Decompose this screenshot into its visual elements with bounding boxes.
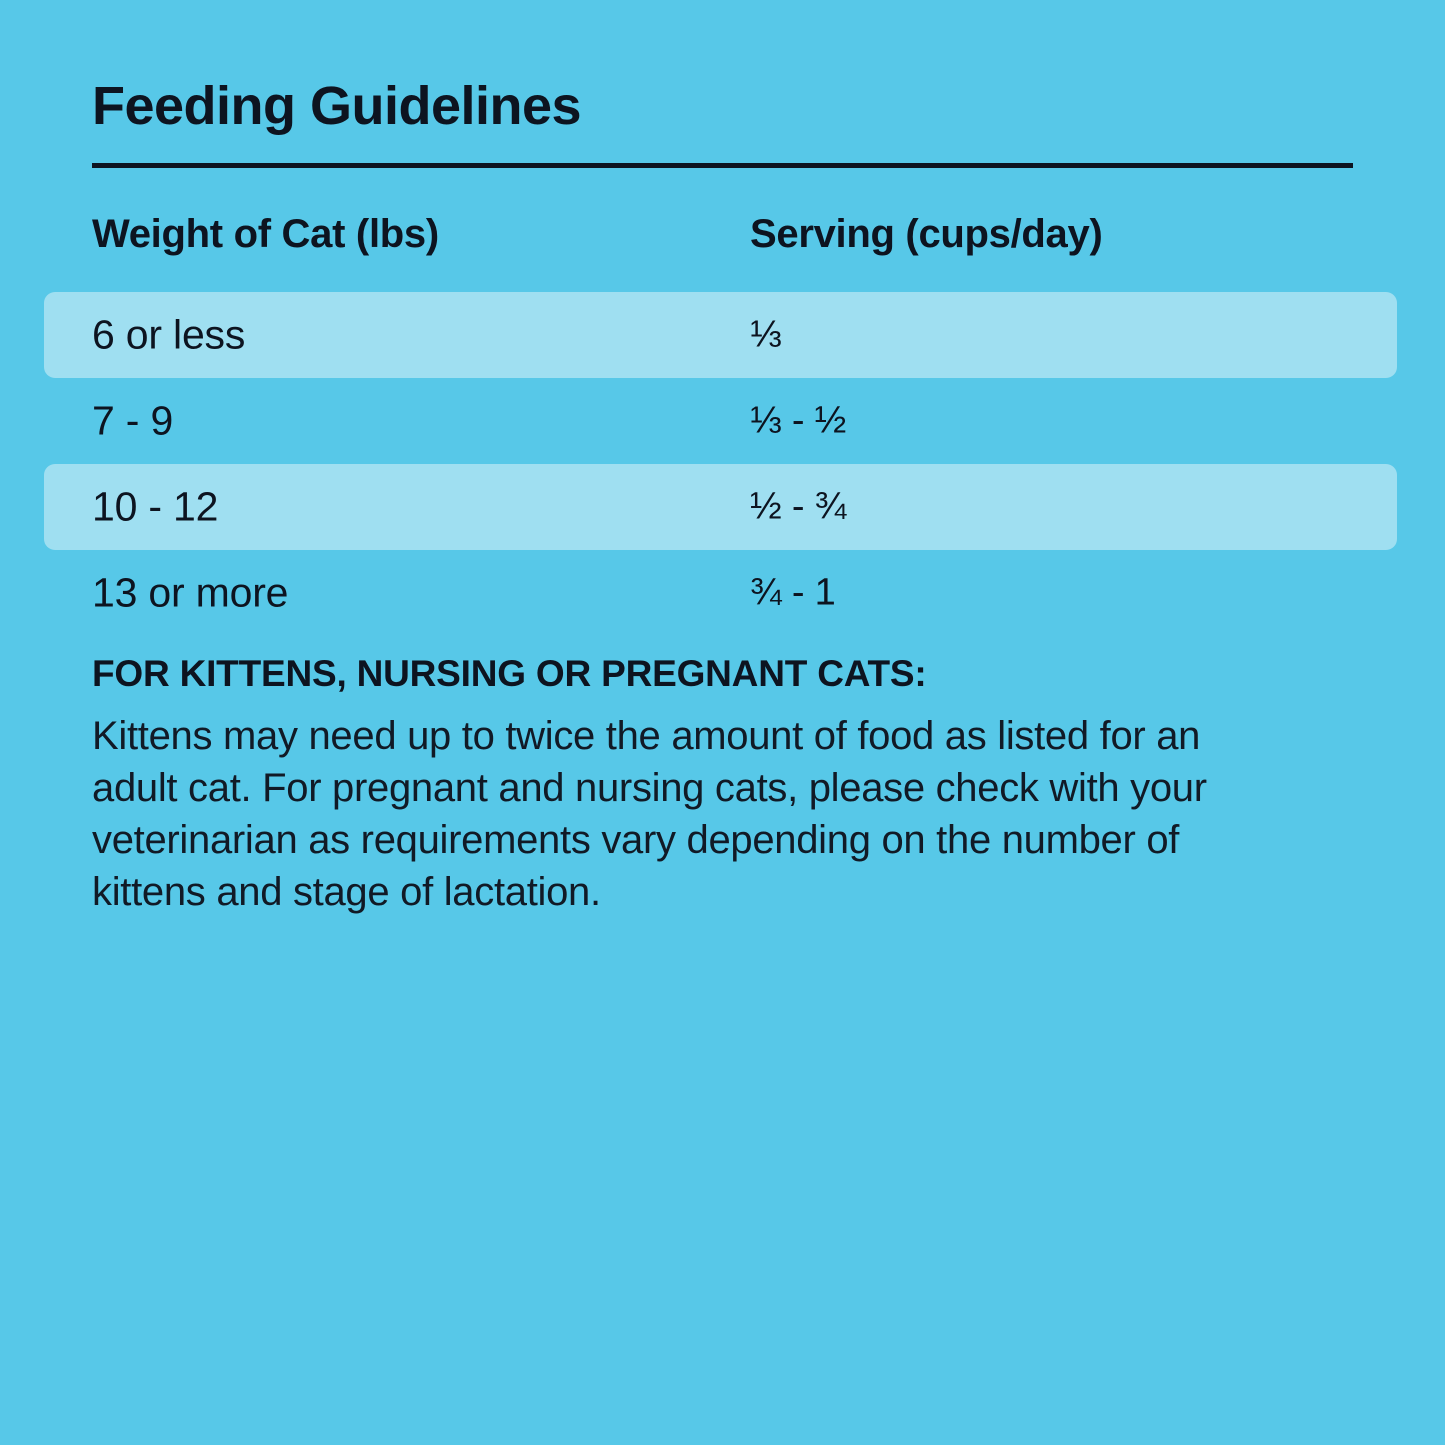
- note-heading: FOR KITTENS, NURSING OR PREGNANT CATS:: [92, 655, 1292, 692]
- table-body: 6 or less ⅓ 7 - 9 ⅓ - ½ 10 - 12 ½ - ¾ 13…: [0, 292, 1445, 636]
- cell-serving: ½ - ¾: [750, 486, 846, 529]
- table-header-row: Weight of Cat (lbs) Serving (cups/day): [0, 196, 1445, 292]
- row-band: [44, 292, 1397, 378]
- note-body: Kittens may need up to twice the amount …: [92, 710, 1292, 918]
- cell-weight: 10 - 12: [92, 484, 218, 531]
- cell-serving: ¾ - 1: [750, 572, 836, 615]
- row-band: [44, 464, 1397, 550]
- kitten-note: FOR KITTENS, NURSING OR PREGNANT CATS: K…: [92, 655, 1292, 918]
- cell-weight: 13 or more: [92, 570, 288, 617]
- row-band: [44, 378, 1397, 464]
- page-title: Feeding Guidelines: [92, 79, 581, 133]
- table-row: 7 - 9 ⅓ - ½: [0, 378, 1445, 464]
- table-row: 6 or less ⅓: [0, 292, 1445, 378]
- cell-serving: ⅓ - ½: [750, 400, 846, 443]
- column-header-serving: Serving (cups/day): [750, 212, 1102, 257]
- table-row: 13 or more ¾ - 1: [0, 550, 1445, 636]
- feeding-guidelines-panel: Feeding Guidelines Weight of Cat (lbs) S…: [0, 0, 1445, 1445]
- title-divider: [92, 163, 1353, 168]
- cell-weight: 6 or less: [92, 312, 245, 359]
- cell-weight: 7 - 9: [92, 398, 173, 445]
- column-header-weight: Weight of Cat (lbs): [92, 212, 439, 257]
- cell-serving: ⅓: [750, 314, 782, 357]
- feeding-table: Weight of Cat (lbs) Serving (cups/day) 6…: [0, 196, 1445, 636]
- table-row: 10 - 12 ½ - ¾: [0, 464, 1445, 550]
